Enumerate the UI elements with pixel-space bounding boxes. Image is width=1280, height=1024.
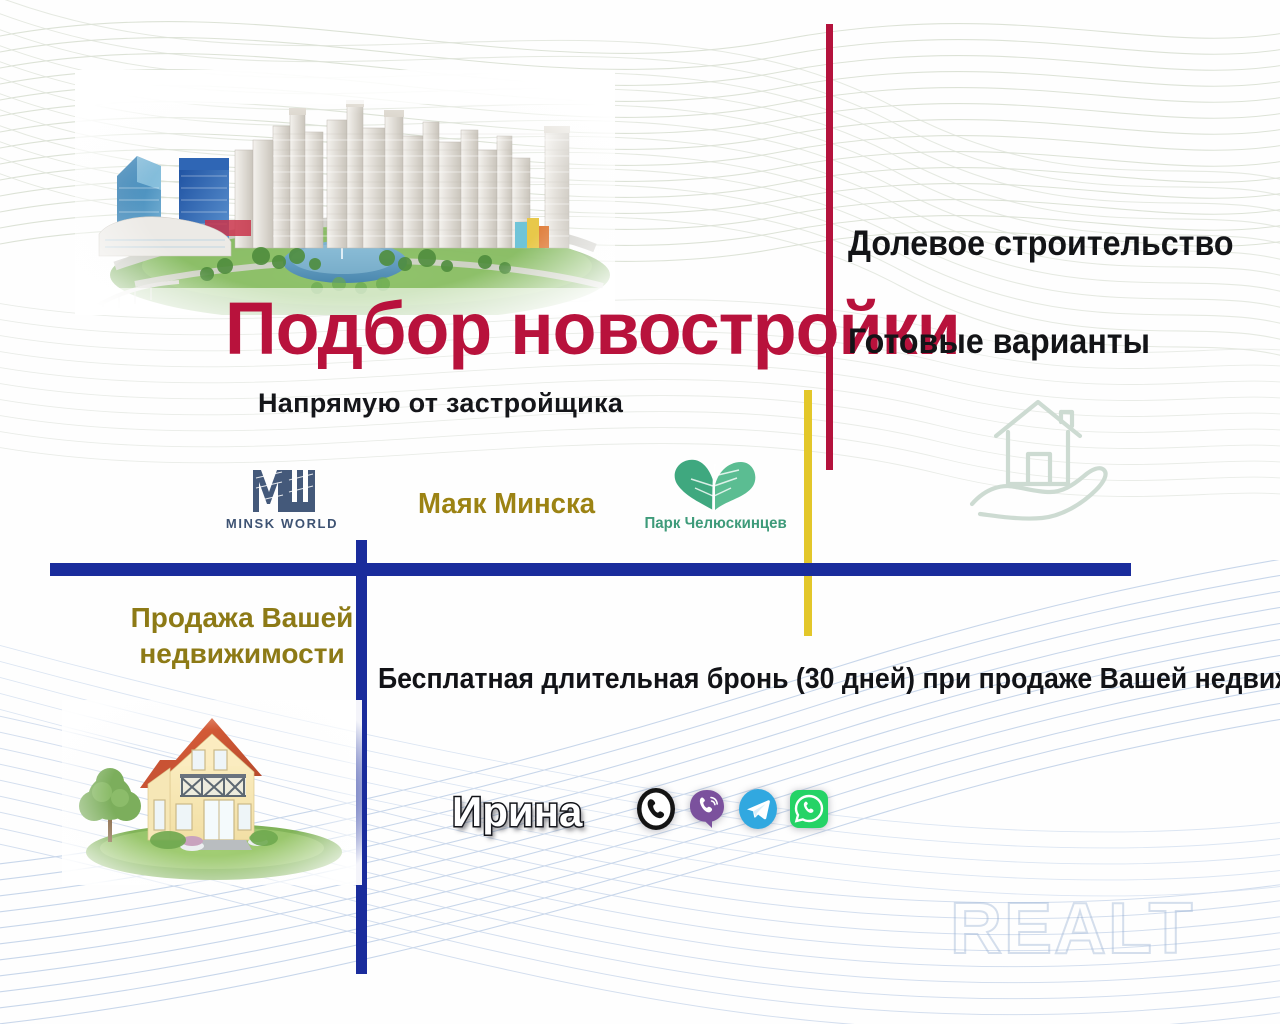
cityscape-photo bbox=[75, 70, 615, 315]
free-reservation-banner: Бесплатная длительная бронь (30 дней) пр… bbox=[378, 663, 1280, 696]
advertisement-poster: REALT bbox=[0, 0, 1280, 1024]
cottage-house-photo bbox=[62, 700, 362, 885]
divider-red-vertical bbox=[826, 24, 833, 470]
agent-name: Ирина bbox=[452, 788, 582, 836]
logo-park-caption: Парк Челюскинцев bbox=[645, 515, 786, 533]
realt-watermark: REALT bbox=[950, 888, 1195, 970]
green-leaf-icon bbox=[640, 452, 790, 514]
divider-blue-horizontal bbox=[50, 563, 1131, 576]
logo-park-chelyuskintsev: Парк Челюскинцев bbox=[640, 452, 790, 533]
phone-icon[interactable] bbox=[634, 787, 678, 831]
house-in-hand-icon bbox=[958, 392, 1118, 524]
contact-icons bbox=[634, 787, 831, 831]
offer-shared-construction: Долевое строительство bbox=[848, 224, 1233, 264]
logo-minsk-world-caption: MINSK WORLD bbox=[222, 516, 342, 531]
divider-yellow-vertical bbox=[804, 390, 812, 636]
logo-minsk-world: MINSK WORLD bbox=[222, 468, 342, 531]
whatsapp-icon[interactable] bbox=[787, 787, 831, 831]
offer-ready-options: Готовые варианты bbox=[848, 322, 1150, 362]
page-subtitle: Напрямую от застройщика bbox=[258, 388, 623, 419]
mw-monogram-icon bbox=[222, 468, 342, 514]
logo-mayak-minska: Маяк Минска bbox=[418, 488, 595, 521]
sell-line-1: Продажа Вашей bbox=[128, 600, 356, 636]
viber-icon[interactable] bbox=[685, 787, 729, 831]
sell-your-property-block: Продажа Вашей недвижимости bbox=[128, 600, 356, 672]
telegram-icon[interactable] bbox=[736, 787, 780, 831]
sell-line-2: недвижимости bbox=[128, 636, 356, 672]
